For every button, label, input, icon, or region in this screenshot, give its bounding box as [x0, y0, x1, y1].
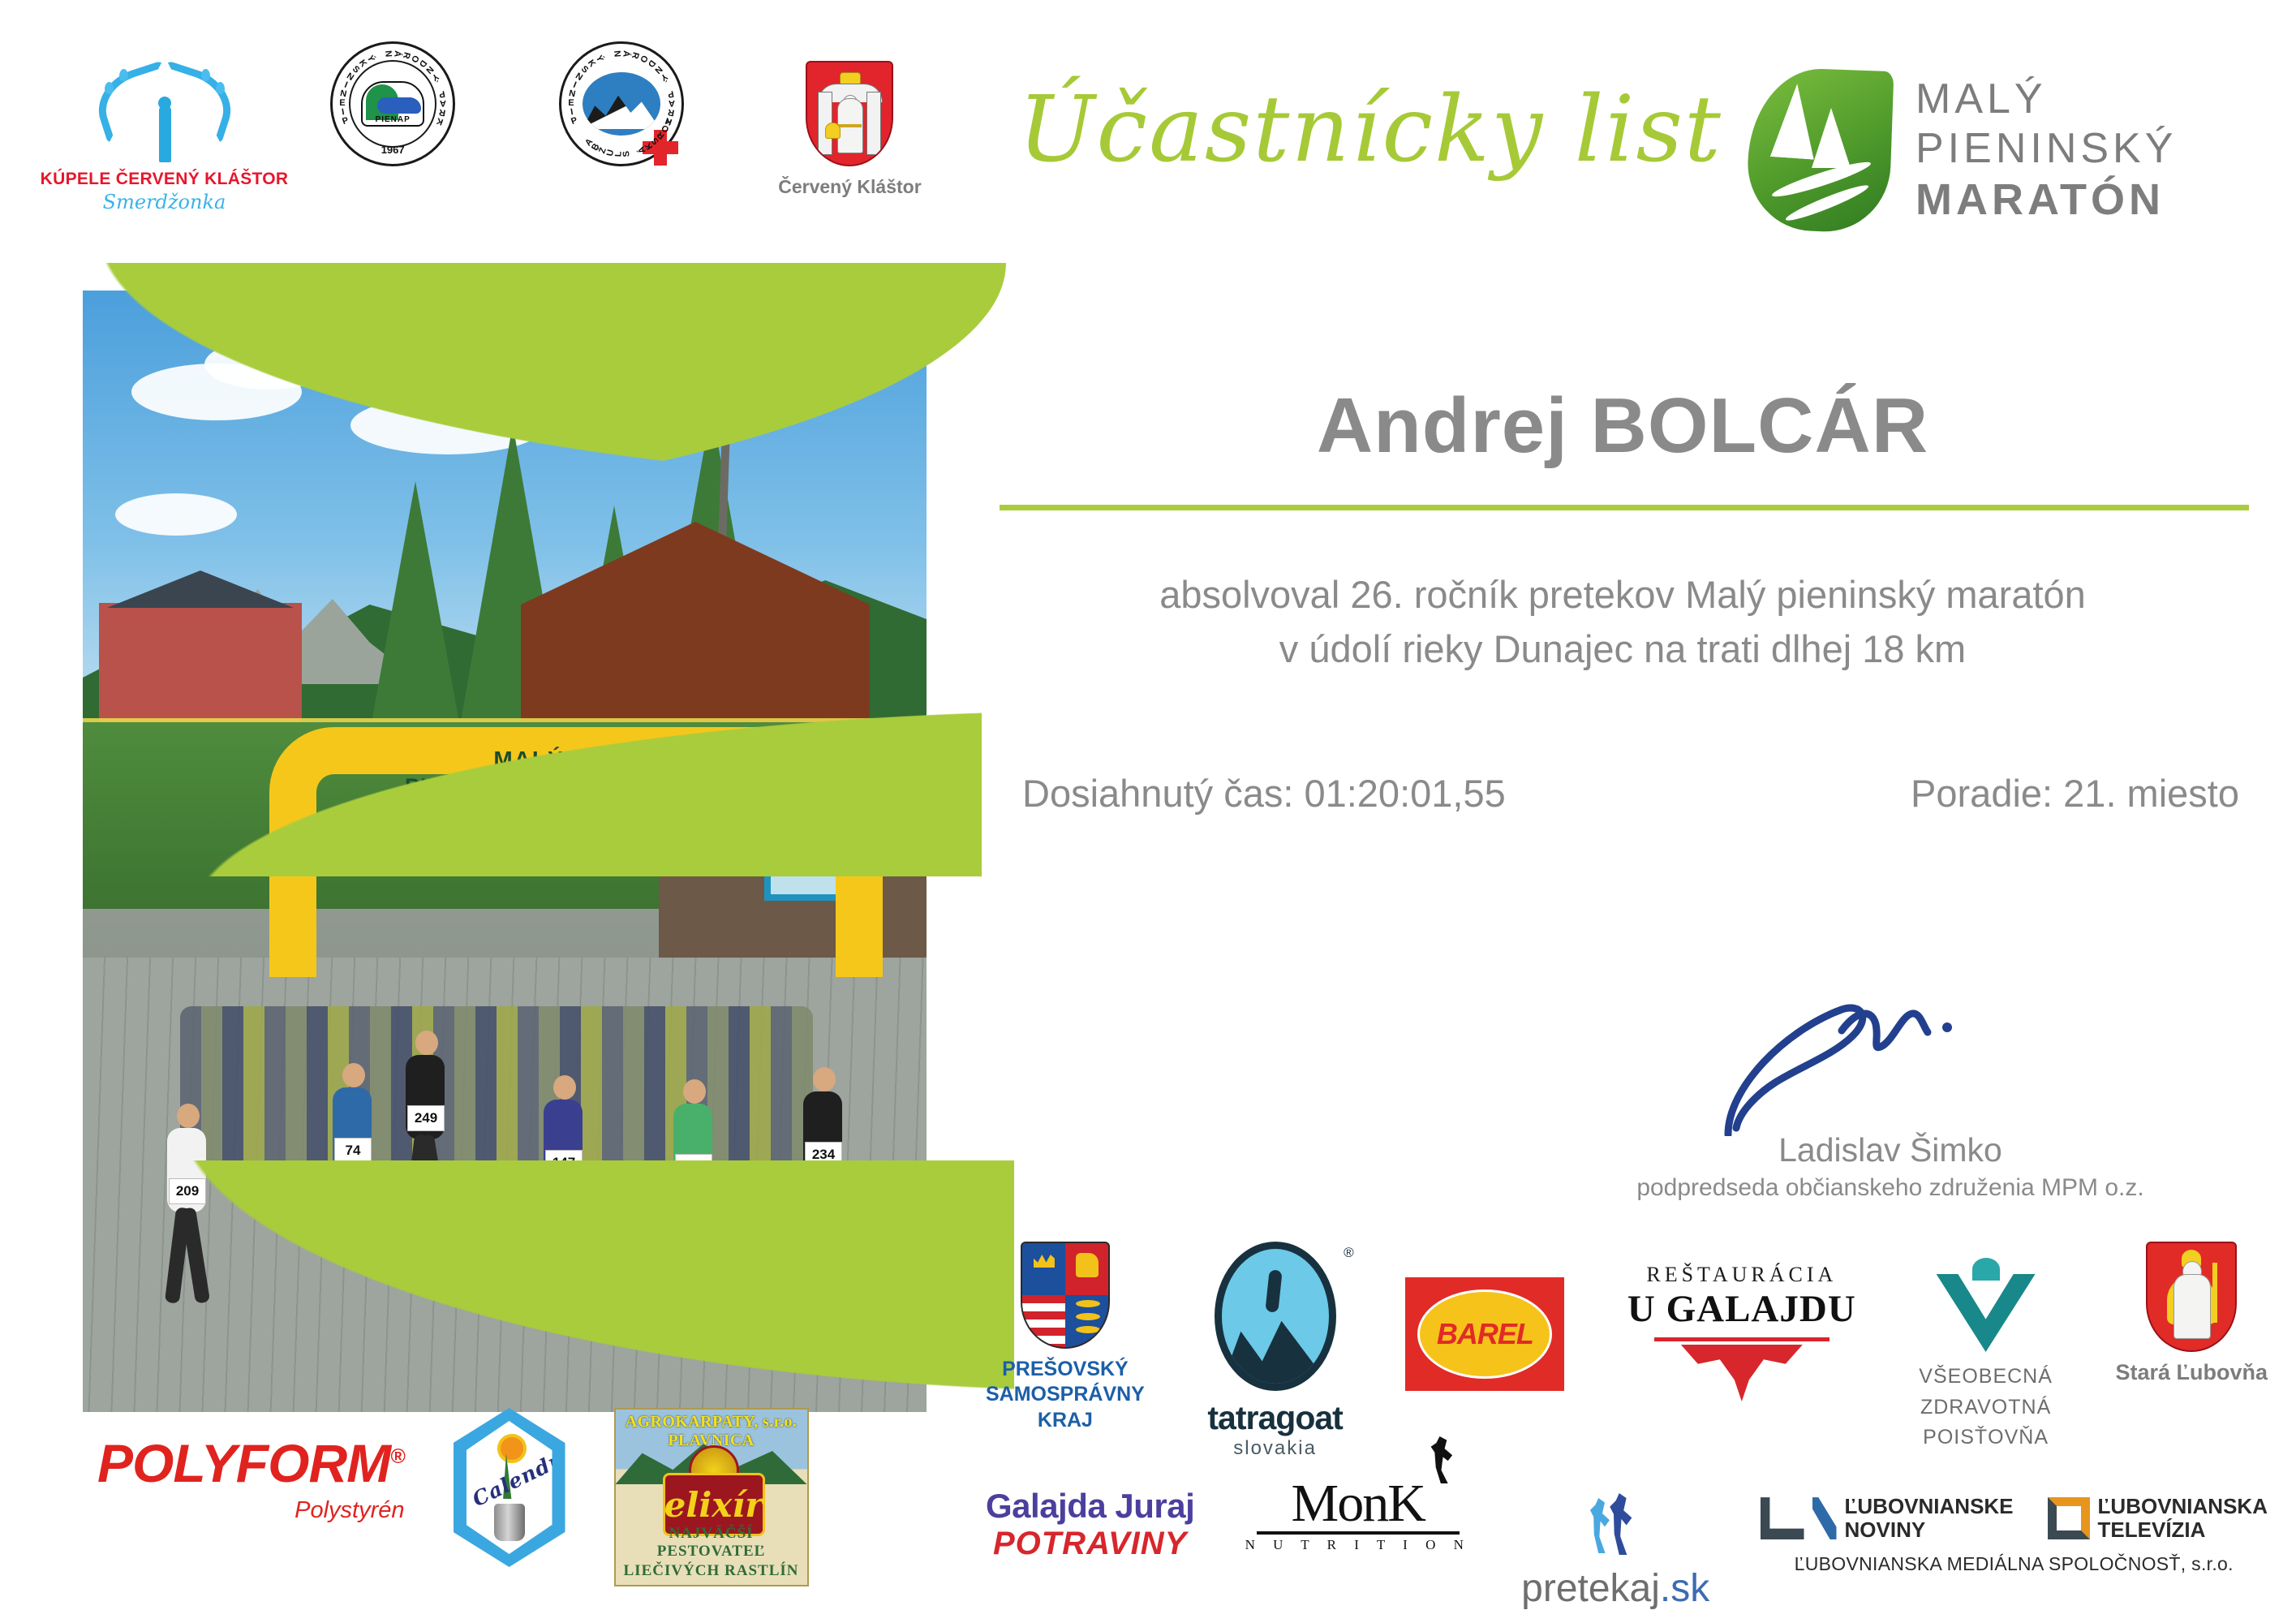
agrokarpaty-foot-1: NAJVÄČŠÍ PESTOVATEĽ — [616, 1525, 807, 1561]
tatragoat-wordmark: tatragoat — [1207, 1399, 1342, 1437]
polyform-sub: Polystyrén — [97, 1497, 405, 1524]
vzp-line-2: ZDRAVOTNÁ — [1919, 1393, 2053, 1423]
ugalajdu-line-1: REŠTAURÁCIA — [1646, 1263, 1837, 1287]
sponsor-galajda-juraj-potraviny: Galajda Juraj POTRAVINY — [986, 1479, 1194, 1562]
pretekaj-tld: .sk — [1660, 1567, 1709, 1610]
leaf-mountain-icon — [1748, 69, 1891, 231]
elixir-wordmark: elixír — [664, 1485, 763, 1525]
agrokarpaty-foot-2: LIEČIVÝCH RASTLÍN — [616, 1562, 807, 1580]
pienap-seal-icon: PIENAP 1967 PIENINSKÝ NÁRODNÝ PARK — [330, 41, 455, 166]
mortar-and-pestle-icon — [494, 1504, 525, 1541]
lt-line-2: TELEVÍZIA — [2098, 1518, 2268, 1542]
event-brand-logo: MALÝ PIENINSKÝ MARATÓN — [1748, 69, 2177, 231]
signatory-name: Ladislav Šimko — [1631, 1131, 2150, 1169]
sponsor-agrokarpaty-elixir: AGROKARPATY, s.r.o. PLAVNICA elixír NAJV… — [614, 1408, 809, 1586]
lubovnianska-televizia-logo: ĽUBOVNIANSKA TELEVÍZIA — [2048, 1495, 2268, 1542]
vzp-line-3: POISŤOVŇA — [1919, 1423, 2053, 1453]
folk-ornament-icon — [1681, 1345, 1803, 1401]
result-row: Dosiahnutý čas: 01:20:01,55 Poradie: 21.… — [1006, 771, 2255, 816]
statement-line-1: absolvoval 26. ročník pretekov Malý pien… — [1006, 568, 2239, 622]
angel-water-icon — [92, 45, 238, 166]
tatragoat-emblem-icon — [1215, 1242, 1336, 1391]
two-runners-icon — [1589, 1493, 1642, 1556]
signature-block: Ladislav Šimko podpredseda občianskeho z… — [1631, 998, 2150, 1202]
handwritten-signature-icon — [1631, 998, 2150, 1136]
pretekaj-wordmark: pretekaj — [1521, 1567, 1660, 1610]
letter-l-icon — [1761, 1497, 1804, 1539]
sponsor-barel: BAREL — [1405, 1242, 1564, 1391]
sponsors-row-left: POLYFORM® Polystyrén Calendula AGROKARPA… — [97, 1408, 957, 1603]
sponsor-tatragoat: ® tatragoat slovakia — [1207, 1242, 1342, 1460]
logo-kupele-cerveny-klastor: KÚPELE ČERVENÝ KLÁŠTOR Smerdžonka — [77, 45, 252, 213]
brand-line-3: MARATÓN — [1915, 174, 2177, 226]
letter-n-icon — [1812, 1497, 1837, 1539]
psk-line-2: SAMOSPRÁVNY — [986, 1382, 1145, 1407]
placement: Poradie: 21. miesto — [1911, 771, 2239, 816]
logo-cerveny-klastor: Červený Kláštor — [763, 45, 937, 198]
sponsor-monk-nutrition: MonK N U T R I T I O N — [1245, 1479, 1471, 1553]
signatory-role: podpredseda občianskeho združenia MPM o.… — [1631, 1174, 2150, 1202]
vzp-mark-icon — [1937, 1258, 2036, 1352]
psk-line-3: KRAJ — [986, 1408, 1145, 1433]
frame-icon — [2048, 1497, 2090, 1539]
sponsor-vseobecna-zdravotna-poistovna: VŠEOBECNÁ ZDRAVOTNÁ POISŤOVŇA — [1919, 1242, 2053, 1453]
sponsors-row-primary: PREŠOVSKÝ SAMOSPRÁVNY KRAJ ® tatragoat s… — [986, 1242, 2268, 1444]
stara-lubovna-coat-of-arms-icon — [2146, 1242, 2237, 1352]
logo-horska-sluzba: PIENINSKÝ NÁRODNÝ PARKHORSKÁ SLUŽBA — [534, 45, 708, 166]
top-partner-logos: KÚPELE ČERVENÝ KLÁŠTOR Smerdžonka PIENAP… — [77, 45, 937, 231]
sponsor-polyform: POLYFORM® Polystyrén — [97, 1408, 405, 1524]
statement-line-2: v údolí rieky Dunajec na trati dlhej 18 … — [1006, 622, 2239, 677]
ugalajdu-line-2: U GALAJDU — [1627, 1287, 1856, 1331]
barel-wordmark: BAREL — [1437, 1317, 1533, 1351]
monk-sub: N U T R I T I O N — [1245, 1537, 1471, 1553]
agrokarpaty-header: AGROKARPATY, s.r.o. PLAVNICA — [616, 1413, 807, 1450]
barel-logo-icon: BAREL — [1405, 1277, 1564, 1391]
registered-trademark-icon: ® — [390, 1445, 404, 1468]
lt-line-1: ĽUBOVNIANSKA — [2098, 1495, 2268, 1518]
horska-sluzba-seal-icon: PIENINSKÝ NÁRODNÝ PARKHORSKÁ SLUŽBA — [559, 41, 684, 166]
media-company-footer: ĽUBOVNIANSKA MEDIÁLNA SPOLOČNOSŤ, s.r.o. — [1795, 1553, 2234, 1575]
tatragoat-sub: slovakia — [1233, 1437, 1317, 1460]
galajda-line-2: POTRAVINY — [993, 1526, 1187, 1562]
finish-time: Dosiahnutý čas: 01:20:01,55 — [1022, 771, 1506, 816]
stara-lubovna-label: Stará Ľubovňa — [2115, 1360, 2268, 1385]
accent-divider — [1000, 505, 2249, 510]
kupele-subtitle: Smerdžonka — [103, 191, 226, 213]
monk-wordmark: MonK — [1292, 1479, 1425, 1530]
sponsor-lubovnianska-medialna-spolocnost: ĽUBOVNIANSKE NOVINY ĽUBOVNIANSKA TELEVÍZ… — [1761, 1479, 2268, 1575]
sponsor-restauracia-u-galajdu: REŠTAURÁCIA U GALAJDU — [1627, 1242, 1856, 1401]
cerveny-klastor-coat-of-arms-icon — [806, 61, 893, 166]
ugalajdu-rule — [1654, 1337, 1829, 1341]
registered-trademark-icon: ® — [1344, 1245, 1354, 1261]
certificate-title: Účastnícky list — [1018, 77, 1722, 183]
ln-line-2: NOVINY — [1845, 1518, 2014, 1542]
ln-line-1: ĽUBOVNIANSKE — [1845, 1495, 2014, 1518]
achievement-statement: absolvoval 26. ročník pretekov Malý pien… — [1006, 568, 2239, 676]
logo-pieninsky-narodny-park: PIENAP 1967 PIENINSKÝ NÁRODNÝ PARK — [306, 45, 480, 166]
psk-line-1: PREŠOVSKÝ — [986, 1357, 1145, 1382]
galajda-line-1: Galajda Juraj — [986, 1487, 1194, 1526]
kupele-title: KÚPELE ČERVENÝ KLÁŠTOR — [41, 170, 289, 189]
sponsors-row-secondary: Galajda Juraj POTRAVINY MonK N U T R I T… — [986, 1479, 2268, 1600]
calendula-wordmark: Calendula — [468, 1455, 552, 1512]
sponsor-pretekaj-sk: pretekaj.sk — [1521, 1479, 1709, 1611]
sponsor-stara-lubovna: Stará Ľubovňa — [2115, 1242, 2268, 1385]
cerveny-klastor-label: Červený Kláštor — [778, 176, 921, 198]
certificate-page: KÚPELE ČERVENÝ KLÁŠTOR Smerdžonka PIENAP… — [0, 0, 2296, 1623]
polyform-wordmark: POLYFORM — [97, 1433, 390, 1493]
sponsor-presovsky-samospravny-kraj: PREŠOVSKÝ SAMOSPRÁVNY KRAJ — [986, 1242, 1145, 1433]
psk-shield-icon — [1021, 1242, 1110, 1349]
participant-name: Andrej BOLCÁR — [1006, 381, 2239, 471]
runner-bib: 249 — [407, 1105, 445, 1131]
brand-line-1: MALÝ — [1915, 75, 2177, 124]
lubovnianske-noviny-logo: ĽUBOVNIANSKE NOVINY — [1761, 1495, 2014, 1542]
brand-line-2: PIENINSKÝ — [1915, 124, 2177, 174]
photo-collage: MALÝ PIENINSKÝ MARATÓN 209 74 249 — [57, 268, 953, 1412]
marigold-flower-icon — [497, 1434, 527, 1463]
green-swoosh-middle — [24, 674, 982, 876]
sponsor-calendula: Calendula — [454, 1408, 565, 1567]
vzp-line-1: VŠEOBECNÁ — [1919, 1362, 2053, 1393]
